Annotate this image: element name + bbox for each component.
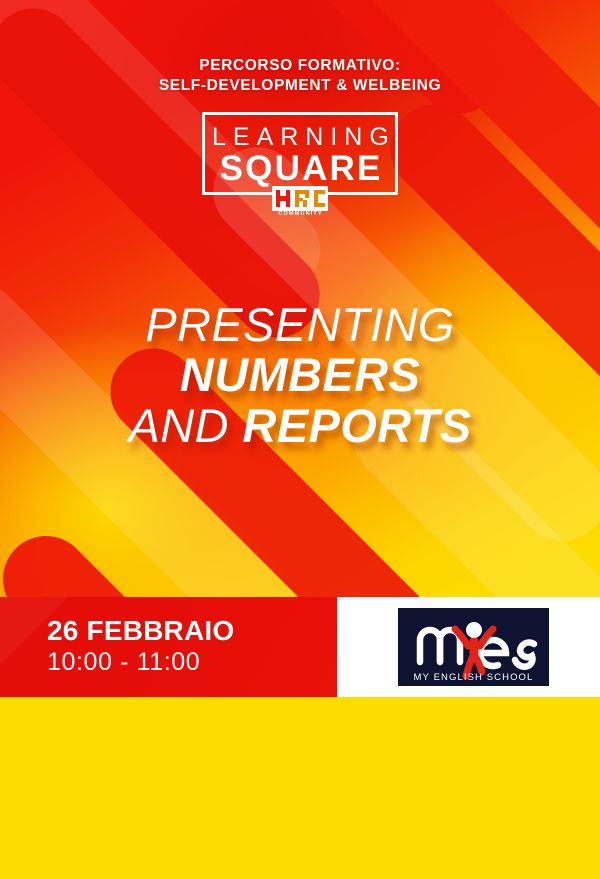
hrc-community-badge: COMMUNITY (272, 186, 328, 224)
bottom-stripe-pattern (0, 697, 600, 879)
logo-word-learning: LEARNING (205, 125, 395, 150)
event-date-banner: 26 FEBBRAIO 10:00 - 11:00 (0, 597, 337, 697)
title-line-1: PRESENTING (0, 300, 600, 350)
svg-text:MY ENGLISH SCHOOL: MY ENGLISH SCHOOL (414, 672, 534, 683)
event-time: 10:00 - 11:00 (47, 647, 234, 678)
title-line-3-bold: REPORTS (242, 399, 471, 452)
poster-title: PRESENTING NUMBERS AND REPORTS (0, 300, 600, 451)
title-line-2: NUMBERS (0, 350, 600, 400)
event-details: 26 FEBBRAIO 10:00 - 11:00 (47, 614, 234, 678)
learning-square-logo: LEARNING SQUARE (202, 112, 398, 195)
hrc-badge-subtitle: COMMUNITY (272, 212, 328, 218)
bottom-yellow-block (0, 697, 600, 879)
hrc-logo-icon (272, 186, 328, 211)
poster-canvas: PERCORSO FORMATIVO: SELF-DEVELOPMENT & W… (0, 0, 600, 879)
myes-logo: MY ENGLISH SCHOOL (398, 608, 549, 686)
kicker-line-1: PERCORSO FORMATIVO: (199, 57, 400, 74)
logo-word-square: SQUARE (205, 151, 395, 186)
event-date: 26 FEBBRAIO (47, 614, 234, 647)
course-kicker: PERCORSO FORMATIVO: SELF-DEVELOPMENT & W… (0, 56, 600, 97)
title-line-3: AND REPORTS (0, 401, 600, 451)
kicker-line-2: SELF-DEVELOPMENT & WELBEING (0, 76, 600, 96)
title-line-3-light: AND (128, 399, 242, 452)
